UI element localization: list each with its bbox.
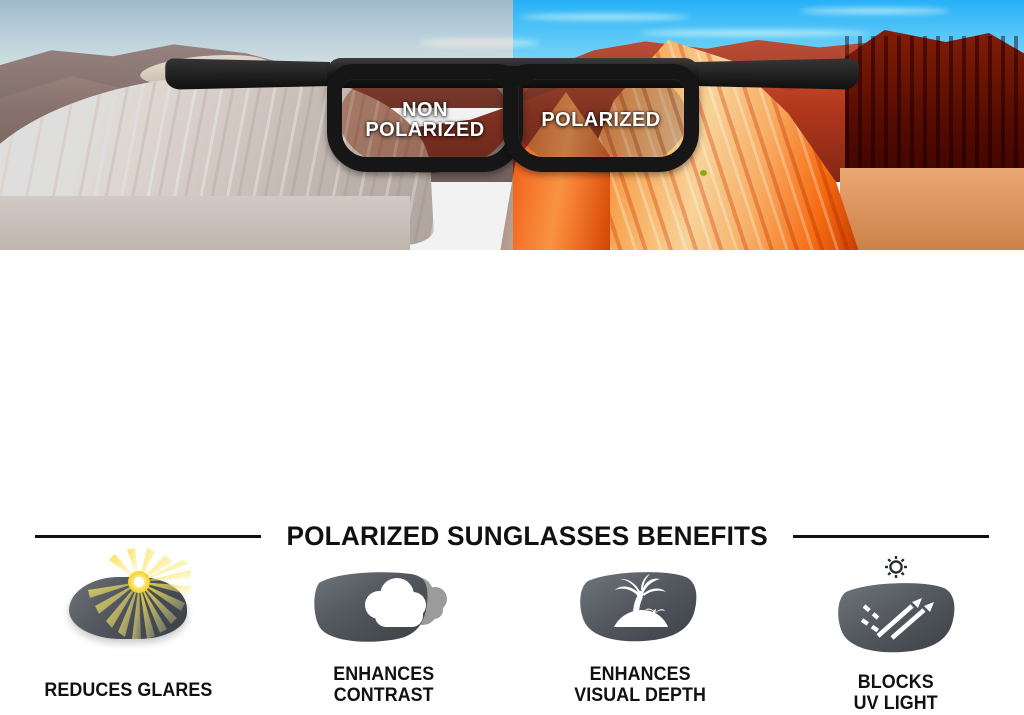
non-polarized-label: NON POLARIZED — [345, 100, 505, 141]
benefits-title: POLARIZED SUNGLASSES BENEFITS — [286, 521, 767, 552]
benefits-cards: REDUCES GLARES — [0, 560, 1024, 715]
lens-with-clouds-icon — [309, 565, 459, 651]
frame-bridge — [489, 66, 537, 86]
title-rule-left — [35, 535, 261, 538]
temple-arm-right — [694, 58, 859, 89]
benefit-card-reduces-glares: REDUCES GLARES — [0, 560, 256, 715]
benefit-label: ENHANCES VISUAL DEPTH — [574, 664, 706, 707]
polarized-label: POLARIZED — [520, 110, 682, 130]
lens-shape — [69, 577, 187, 639]
sunglasses-overlay: NON POLARIZED POLARIZED — [0, 0, 1024, 250]
title-rule-right — [793, 535, 989, 538]
icon-wrap — [555, 560, 725, 656]
benefits-title-row: POLARIZED SUNGLASSES BENEFITS — [0, 521, 1024, 552]
benefit-card-enhances-visual-depth: ENHANCES VISUAL DEPTH — [512, 560, 768, 715]
benefit-label: ENHANCES CONTRAST — [334, 664, 435, 707]
icon-wrap — [43, 560, 213, 656]
lens-with-palm-island-icon — [570, 565, 710, 651]
temple-arm-left — [165, 58, 330, 89]
hero-comparison-image: NON POLARIZED POLARIZED — [0, 0, 1024, 250]
sunglasses-frame — [0, 0, 1024, 250]
benefits-section: POLARIZED SUNGLASSES BENEFITS — [0, 250, 1024, 492]
benefit-card-enhances-contrast: ENHANCES CONTRAST — [256, 560, 512, 715]
benefit-label: REDUCES GLARES — [44, 680, 212, 701]
icon-wrap — [299, 560, 469, 656]
benefit-label: BLOCKS UV LIGHT — [854, 672, 938, 715]
benefit-card-blocks-uv-light: BLOCKS UV LIGHT — [768, 560, 1024, 715]
lens-with-uv-arrows-icon — [826, 554, 966, 662]
sun-icon — [885, 556, 907, 578]
polarized-sunglasses-infographic: NON POLARIZED POLARIZED POLARIZED SUNGLA… — [0, 0, 1024, 492]
icon-wrap — [811, 560, 981, 656]
